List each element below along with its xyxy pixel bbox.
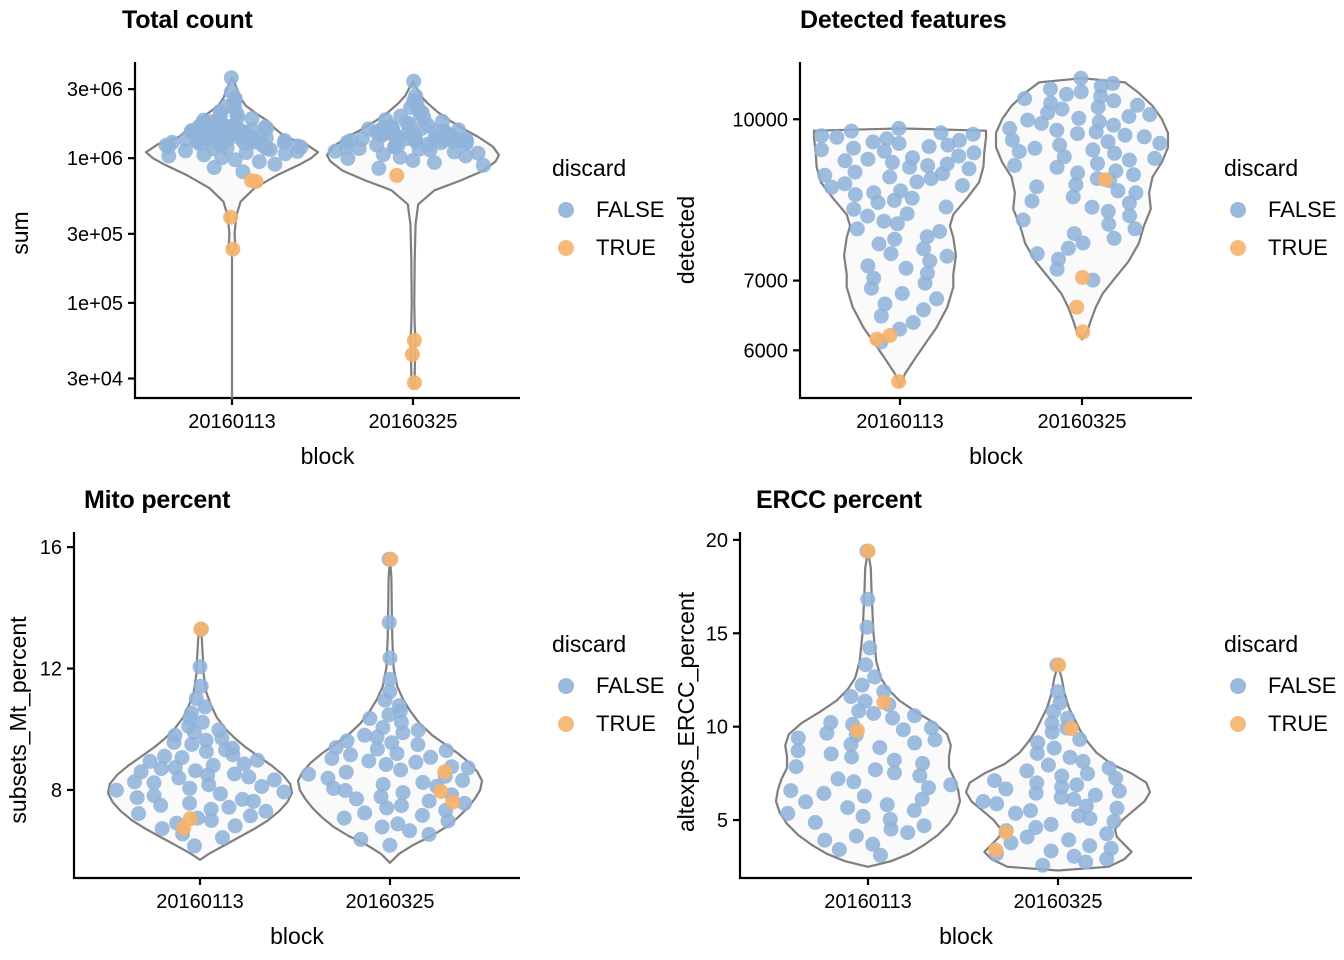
data-point-false: [907, 735, 922, 750]
data-point-false: [783, 783, 798, 798]
data-point-false: [951, 149, 966, 164]
y-tick-label: 7000: [744, 271, 789, 293]
data-point-false: [375, 720, 390, 735]
y-tick-label: 12: [40, 659, 62, 681]
data-point-false: [379, 757, 394, 772]
data-point-false: [884, 246, 899, 261]
data-point-false: [887, 232, 902, 247]
data-point-false: [952, 133, 967, 148]
data-point-false: [410, 737, 425, 752]
data-point-false: [966, 127, 981, 142]
legend-key-false-icon: [558, 678, 574, 694]
data-point-false: [276, 785, 291, 800]
panel-total-count: Total count 3e+061e+063e+051e+053e+04201…: [0, 0, 672, 480]
legend-entry-label: FALSE: [596, 673, 664, 698]
data-point-false: [382, 672, 397, 687]
data-point-false: [411, 723, 426, 738]
data-point-false: [241, 770, 256, 785]
data-point-true: [407, 375, 422, 390]
data-point-false: [855, 678, 870, 693]
data-point-false: [1074, 84, 1089, 99]
data-point-true: [433, 784, 448, 799]
data-point-false: [838, 153, 853, 168]
data-point-false: [157, 749, 172, 764]
figure-grid: Total count 3e+061e+063e+051e+053e+04201…: [0, 0, 1344, 960]
data-point-false: [789, 759, 804, 774]
data-point-false: [1128, 221, 1143, 236]
data-point-false: [1025, 194, 1040, 209]
data-point-true: [223, 210, 238, 225]
data-point-false: [362, 711, 377, 726]
data-point-false: [1049, 123, 1064, 138]
data-point-false: [816, 786, 831, 801]
data-point-false: [277, 133, 292, 148]
x-axis-title: block: [939, 923, 993, 949]
data-point-false: [1043, 82, 1058, 97]
data-point-false: [215, 830, 230, 845]
data-point-false: [1044, 817, 1059, 832]
data-point-false: [966, 145, 981, 160]
data-point-false: [1088, 788, 1103, 803]
data-point-false: [844, 689, 859, 704]
data-point-false: [808, 815, 823, 830]
legend-key-false-icon: [558, 202, 574, 218]
y-tick-label: 10: [706, 717, 728, 739]
data-point-false: [371, 161, 386, 176]
data-point-false: [258, 804, 273, 819]
data-point-false: [1101, 217, 1116, 232]
legend-entry-label: FALSE: [1268, 197, 1336, 222]
x-axis-title: block: [270, 923, 324, 949]
data-point-false: [131, 806, 146, 821]
x-tick-label: 20160325: [1038, 411, 1127, 433]
data-point-false: [1112, 784, 1127, 799]
legend-title: discard: [552, 155, 626, 181]
data-point-false: [321, 771, 336, 786]
data-point-false: [250, 753, 265, 768]
data-point-false: [1066, 792, 1081, 807]
data-point-false: [860, 152, 875, 167]
data-point-false: [858, 694, 873, 709]
data-point-false: [934, 125, 949, 140]
data-point-false: [905, 150, 920, 165]
data-point-false: [862, 640, 877, 655]
panel-mito-percent: Mito percent 161282016011320160325blocks…: [0, 480, 672, 960]
data-point-false: [267, 772, 282, 787]
data-point-false: [435, 114, 450, 129]
data-point-false: [415, 808, 430, 823]
panel-plot-area: 161282016011320160325blocksubsets_Mt_per…: [0, 480, 672, 960]
legend-entry-label: TRUE: [596, 711, 656, 736]
data-point-false: [291, 139, 306, 154]
data-point-false: [877, 297, 892, 312]
data-point-false: [1137, 129, 1152, 144]
data-point-false: [221, 800, 236, 815]
data-point-false: [907, 708, 922, 723]
y-tick-label: 16: [40, 537, 62, 559]
data-point-false: [1017, 91, 1032, 106]
legend-title: discard: [1224, 631, 1298, 657]
data-point-false: [1092, 114, 1107, 129]
data-point-false: [1061, 241, 1076, 256]
data-point-false: [394, 798, 409, 813]
data-point-false: [1070, 126, 1085, 141]
data-point-false: [1085, 142, 1100, 157]
y-tick-label: 1e+05: [67, 293, 123, 315]
data-point-false: [224, 70, 239, 85]
data-point-false: [182, 781, 197, 796]
data-point-false: [1059, 87, 1074, 102]
data-point-false: [1061, 832, 1076, 847]
data-point-false: [1008, 806, 1023, 821]
data-point-false: [1101, 134, 1116, 149]
data-point-false: [1128, 185, 1143, 200]
y-axis-title: altexps_ERCC_percent: [673, 591, 699, 832]
data-point-true: [850, 723, 865, 738]
data-point-false: [932, 224, 947, 239]
data-point-false: [850, 221, 865, 236]
data-point-false: [1107, 814, 1122, 829]
data-point-true: [876, 695, 891, 710]
data-point-true: [437, 764, 452, 779]
data-point-false: [887, 753, 902, 768]
data-point-false: [1043, 96, 1058, 111]
data-point-false: [1107, 231, 1122, 246]
data-point-true: [861, 544, 876, 559]
data-point-false: [906, 315, 921, 330]
data-point-false: [1028, 820, 1043, 835]
data-point-false: [194, 679, 209, 694]
data-point-false: [955, 178, 970, 193]
y-tick-label: 8: [51, 780, 62, 802]
data-point-false: [1029, 775, 1044, 790]
data-point-false: [1152, 136, 1167, 151]
data-point-true: [988, 843, 1003, 858]
data-point-false: [461, 760, 476, 775]
y-axis-title: subsets_Mt_percent: [5, 616, 31, 824]
data-point-false: [471, 146, 486, 161]
y-axis-title: sum: [7, 211, 33, 254]
data-point-false: [929, 291, 944, 306]
panel-plot-area: 10000700060002016011320160325blockdetect…: [672, 0, 1344, 480]
data-point-false: [1044, 844, 1059, 859]
data-point-false: [165, 135, 180, 150]
data-point-false: [339, 765, 354, 780]
legend-entry-label: TRUE: [596, 235, 656, 260]
data-point-true: [1064, 721, 1079, 736]
x-tick-label: 20160325: [369, 411, 458, 433]
data-point-false: [1106, 118, 1121, 133]
data-point-true: [1075, 324, 1090, 339]
x-tick-label: 20160113: [156, 891, 244, 913]
data-point-false: [204, 802, 219, 817]
y-tick-label: 3e+05: [67, 224, 123, 246]
data-point-false: [383, 650, 398, 665]
data-point-false: [831, 771, 846, 786]
data-point-true: [445, 795, 460, 810]
data-point-false: [211, 722, 226, 737]
legend-key-true-icon: [558, 716, 574, 732]
data-point-false: [922, 139, 937, 154]
data-point-false: [361, 121, 376, 136]
data-point-false: [939, 200, 954, 215]
data-point-false: [451, 122, 466, 137]
data-point-false: [439, 743, 454, 758]
data-point-false: [867, 669, 882, 684]
data-point-true: [1051, 658, 1066, 673]
data-point-false: [1142, 107, 1157, 122]
data-point-false: [860, 620, 875, 635]
legend-key-false-icon: [1230, 678, 1246, 694]
data-point-false: [1104, 841, 1119, 856]
data-point-false: [228, 818, 243, 833]
data-point-false: [1020, 113, 1035, 128]
data-point-false: [780, 806, 795, 821]
data-point-false: [872, 740, 887, 755]
data-point-false: [408, 755, 423, 770]
data-point-false: [940, 249, 955, 264]
legend-title: discard: [1224, 155, 1298, 181]
data-point-false: [1076, 754, 1091, 769]
data-point-false: [193, 659, 208, 674]
data-point-false: [1030, 735, 1045, 750]
data-point-false: [912, 768, 927, 783]
data-point-false: [1007, 158, 1022, 173]
data-point-false: [1067, 849, 1082, 864]
data-point-false: [896, 722, 911, 737]
legend-entry-label: FALSE: [596, 197, 664, 222]
data-point-false: [817, 833, 832, 848]
data-point-false: [858, 657, 873, 672]
y-tick-label: 20: [706, 530, 728, 552]
data-point-false: [840, 800, 855, 815]
data-point-false: [390, 816, 405, 831]
data-point-false: [837, 176, 852, 191]
data-point-false: [814, 128, 829, 143]
data-point-false: [900, 206, 915, 221]
data-point-false: [885, 711, 900, 726]
x-tick-label: 20160113: [824, 891, 912, 913]
data-point-false: [989, 796, 1004, 811]
data-point-true: [891, 374, 906, 389]
data-point-false: [1016, 213, 1031, 228]
data-point-false: [832, 842, 847, 857]
y-axis-title: detected: [673, 196, 699, 284]
data-point-true: [998, 825, 1013, 840]
y-tick-label: 6000: [744, 340, 789, 362]
data-point-false: [206, 758, 221, 773]
panel-ercc-percent: ERCC percent 20151052016011320160325bloc…: [672, 480, 1344, 960]
data-point-true: [882, 328, 897, 343]
axis-lines: [135, 62, 520, 398]
data-point-false: [147, 775, 162, 790]
data-point-false: [857, 789, 872, 804]
data-point-false: [1027, 141, 1042, 156]
data-point-false: [406, 74, 421, 89]
data-point-false: [1070, 165, 1085, 180]
data-point-true: [389, 168, 404, 183]
data-point-true: [405, 347, 420, 362]
data-point-false: [1106, 93, 1121, 108]
x-axis-title: block: [301, 443, 355, 469]
data-point-false: [375, 820, 390, 835]
y-tick-label: 15: [706, 623, 728, 645]
data-point-true: [1098, 172, 1113, 187]
data-point-false: [422, 827, 437, 842]
data-point-false: [252, 154, 267, 169]
data-point-false: [1082, 838, 1097, 853]
data-point-false: [343, 747, 358, 762]
data-point-false: [891, 121, 906, 136]
data-point-false: [1041, 758, 1056, 773]
data-point-false: [396, 785, 411, 800]
y-tick-label: 10000: [732, 109, 788, 131]
data-point-false: [1002, 121, 1017, 136]
panel-detected-features: Detected features 1000070006000201601132…: [672, 0, 1344, 480]
data-point-false: [899, 261, 914, 276]
data-point-false: [846, 202, 861, 217]
data-point-false: [188, 763, 203, 778]
data-point-true: [1069, 300, 1084, 315]
data-point-false: [1073, 71, 1088, 86]
data-point-false: [1102, 761, 1117, 776]
data-point-false: [823, 715, 838, 730]
data-point-false: [175, 750, 190, 765]
data-point-false: [244, 111, 259, 126]
legend-entry-label: TRUE: [1268, 711, 1328, 736]
data-point-false: [1054, 769, 1069, 784]
data-point-false: [920, 158, 935, 173]
data-point-false: [168, 728, 183, 743]
data-point-false: [1101, 204, 1116, 219]
data-point-false: [814, 142, 829, 157]
data-point-true: [176, 820, 191, 835]
data-point-false: [916, 302, 931, 317]
data-point-false: [184, 706, 199, 721]
x-axis-title: block: [969, 443, 1023, 469]
x-tick-label: 20160113: [188, 411, 276, 433]
data-point-false: [422, 794, 437, 809]
data-point-false: [1105, 76, 1120, 91]
data-point-false: [1069, 777, 1084, 792]
data-point-false: [848, 165, 863, 180]
data-point-false: [1147, 151, 1162, 166]
data-point-false: [846, 774, 861, 789]
data-point-false: [408, 88, 423, 103]
data-point-false: [235, 792, 250, 807]
data-point-false: [915, 756, 930, 771]
data-point-false: [860, 258, 875, 273]
data-point-true: [193, 622, 208, 637]
data-point-false: [382, 615, 397, 630]
data-point-false: [378, 112, 393, 127]
data-point-false: [224, 85, 239, 100]
legend-title: discard: [552, 631, 626, 657]
data-point-false: [1035, 858, 1050, 873]
data-point-false: [829, 130, 844, 145]
data-point-false: [423, 750, 438, 765]
data-point-false: [846, 141, 861, 156]
data-point-false: [900, 825, 915, 840]
y-tick-label: 1e+06: [67, 148, 123, 170]
data-point-true: [1075, 270, 1090, 285]
data-point-false: [844, 124, 859, 139]
data-point-false: [882, 170, 897, 185]
data-point-false: [1030, 246, 1045, 261]
data-point-false: [865, 837, 880, 852]
data-point-false: [895, 286, 910, 301]
data-point-false: [849, 829, 864, 844]
x-tick-label: 20160325: [1014, 891, 1103, 913]
data-point-false: [883, 812, 898, 827]
data-point-true: [249, 174, 264, 189]
y-tick-label: 3e+04: [67, 369, 123, 391]
data-point-true: [225, 242, 240, 257]
data-point-false: [1050, 684, 1065, 699]
data-point-false: [917, 818, 932, 833]
data-point-false: [1067, 226, 1082, 241]
data-point-false: [182, 796, 197, 811]
data-point-false: [1071, 111, 1086, 126]
data-point-false: [340, 733, 355, 748]
data-point-false: [1063, 750, 1078, 765]
violin-shape: [814, 128, 986, 385]
data-point-true: [383, 552, 398, 567]
data-point-false: [258, 120, 273, 135]
data-point-false: [301, 767, 316, 782]
data-point-false: [393, 763, 408, 778]
legend-key-true-icon: [1230, 240, 1246, 256]
data-point-false: [130, 790, 145, 805]
data-point-false: [1122, 153, 1137, 168]
data-point-false: [943, 777, 958, 792]
data-point-false: [392, 698, 407, 713]
data-point-true: [407, 333, 422, 348]
data-point-false: [1085, 200, 1100, 215]
x-tick-label: 20160113: [856, 411, 944, 433]
data-point-false: [1130, 98, 1145, 113]
data-point-false: [337, 811, 352, 826]
data-point-false: [1029, 179, 1044, 194]
data-point-false: [866, 135, 881, 150]
data-point-false: [893, 183, 908, 198]
data-point-false: [848, 187, 863, 202]
data-point-false: [860, 209, 875, 224]
data-point-false: [1019, 763, 1034, 778]
data-point-false: [962, 161, 977, 176]
x-tick-label: 20160325: [346, 891, 435, 913]
data-point-false: [243, 808, 258, 823]
data-point-false: [384, 735, 399, 750]
data-point-false: [856, 809, 871, 824]
data-point-false: [817, 168, 832, 183]
legend-key-true-icon: [1230, 716, 1246, 732]
legend-key-true-icon: [558, 240, 574, 256]
y-tick-label: 5: [717, 810, 728, 832]
data-point-false: [860, 592, 875, 607]
data-point-false: [976, 794, 991, 809]
data-point-false: [868, 762, 883, 777]
panel-plot-area: 3e+061e+063e+051e+053e+04201601132016032…: [0, 0, 672, 480]
data-point-false: [791, 731, 806, 746]
data-point-false: [1023, 803, 1038, 818]
data-point-false: [147, 788, 162, 803]
data-point-false: [866, 706, 881, 721]
panel-plot-area: 20151052016011320160325blockaltexps_ERCC…: [672, 480, 1344, 960]
data-point-false: [187, 838, 202, 853]
data-point-false: [872, 237, 887, 252]
data-point-false: [1052, 138, 1067, 153]
